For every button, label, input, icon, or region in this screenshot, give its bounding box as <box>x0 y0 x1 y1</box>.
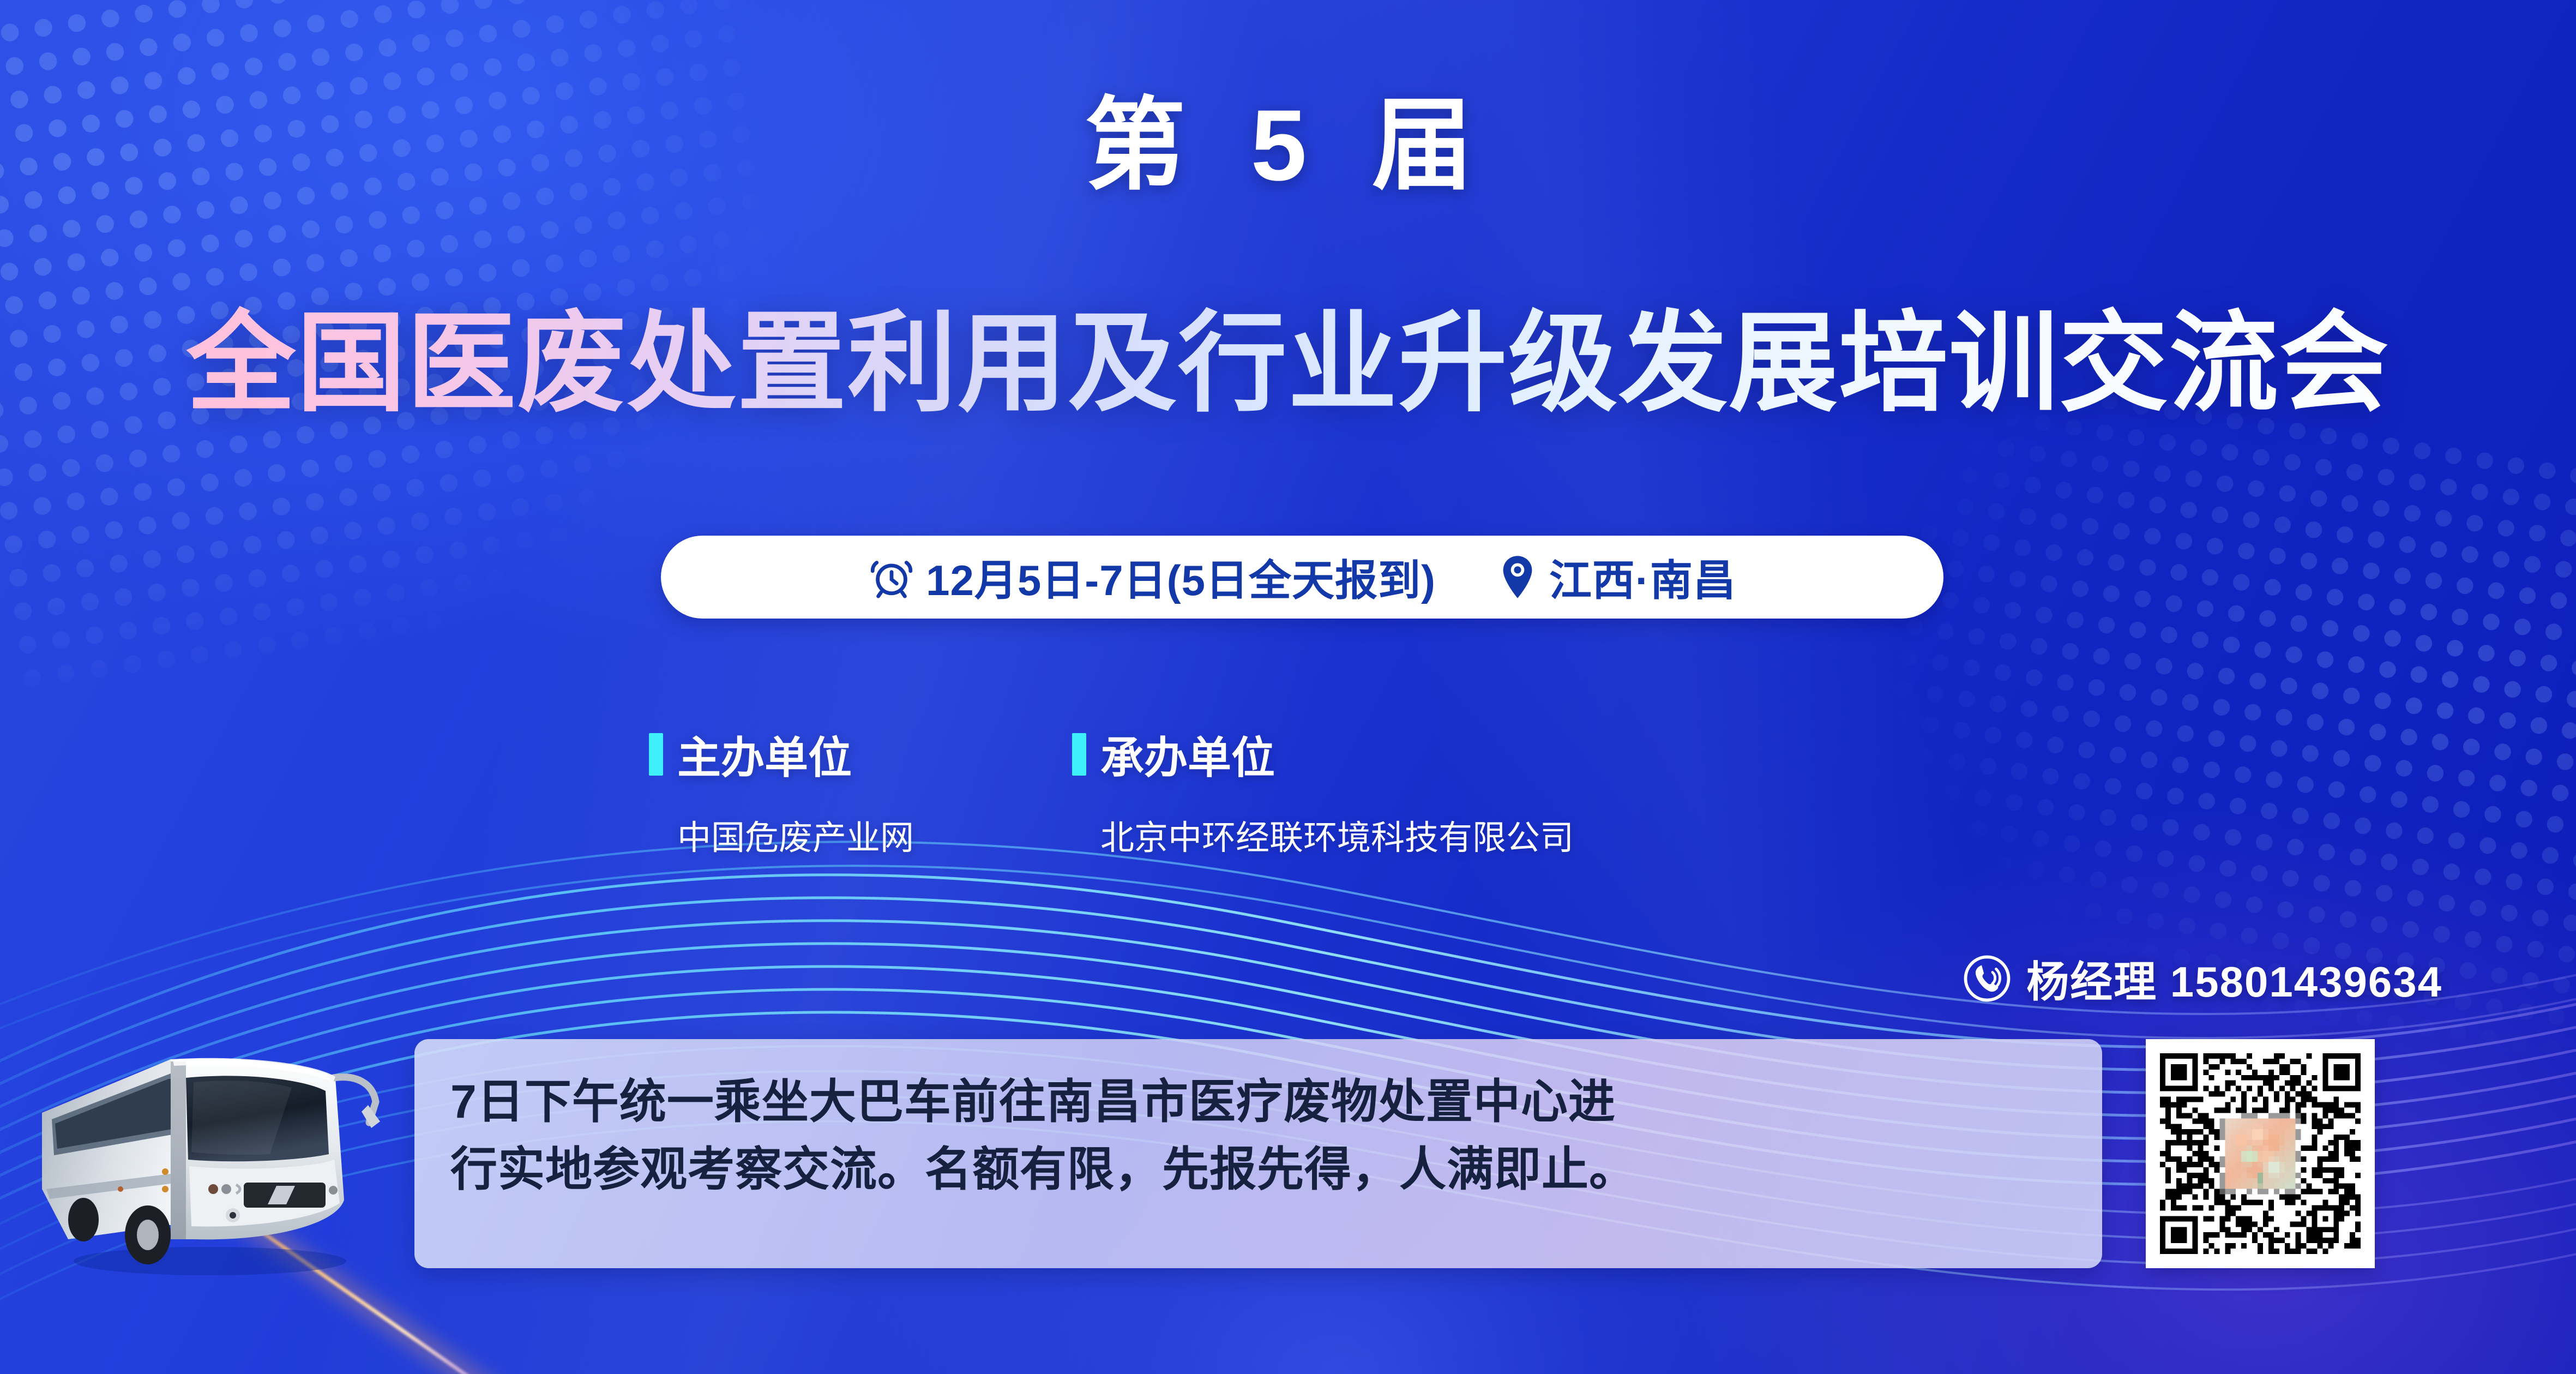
date-segment: 12月5日-7日(5日全天报到) <box>868 547 1436 608</box>
conference-poster: 第 5 届 全国医废处置利用及行业升级发展培训交流会 12月5日-7日(5日全天… <box>0 0 2576 1374</box>
page-title: 全国医废处置利用及行业升级发展培训交流会 <box>0 303 2576 425</box>
host-name: 中国危废产业网 <box>677 810 914 859</box>
accent-bar-icon <box>649 733 663 776</box>
coach-bus-illustration <box>30 1025 412 1282</box>
organizers-section: 主办单位 中国危废产业网 承办单位 北京中环经联环境科技有限公司 <box>649 723 1574 859</box>
accent-bar-icon <box>1072 733 1086 776</box>
location-segment: 江西·南昌 <box>1497 547 1736 608</box>
organizer-host: 主办单位 中国危废产业网 <box>649 723 914 859</box>
date-location-badge: 12月5日-7日(5日全天报到) 江西·南昌 <box>661 536 1943 619</box>
contact-text: 杨经理 15801439634 <box>2026 948 2442 1009</box>
coordinator-name: 北京中环经联环境科技有限公司 <box>1100 810 1574 859</box>
phone-icon <box>1962 953 2012 1004</box>
notice-panel: 7日下午统一乘坐大巴车前往南昌市医疗废物处置中心进 行实地参观考察交流。名额有限… <box>414 1039 2102 1268</box>
coordinator-header: 承办单位 <box>1072 723 1574 786</box>
alarm-clock-icon <box>868 554 915 601</box>
contact-line[interactable]: 杨经理 15801439634 <box>1962 948 2442 1009</box>
wechat-qr-code[interactable] <box>2146 1039 2375 1268</box>
notice-line-2: 行实地参观考察交流。名额有限，先报先得，人满即止。 <box>450 1136 2066 1204</box>
event-location: 江西·南昌 <box>1549 547 1736 608</box>
event-date: 12月5日-7日(5日全天报到) <box>926 547 1436 608</box>
edition-title: 第 5 届 <box>0 95 2576 196</box>
organizer-coordinator: 承办单位 北京中环经联环境科技有限公司 <box>1072 723 1574 859</box>
notice-line-1: 7日下午统一乘坐大巴车前往南昌市医疗废物处置中心进 <box>450 1069 2066 1136</box>
location-pin-icon <box>1497 554 1538 601</box>
coordinator-role-label: 承办单位 <box>1100 723 1275 786</box>
host-role-label: 主办单位 <box>677 723 852 786</box>
host-header: 主办单位 <box>649 723 914 786</box>
qr-canvas <box>2160 1053 2361 1254</box>
